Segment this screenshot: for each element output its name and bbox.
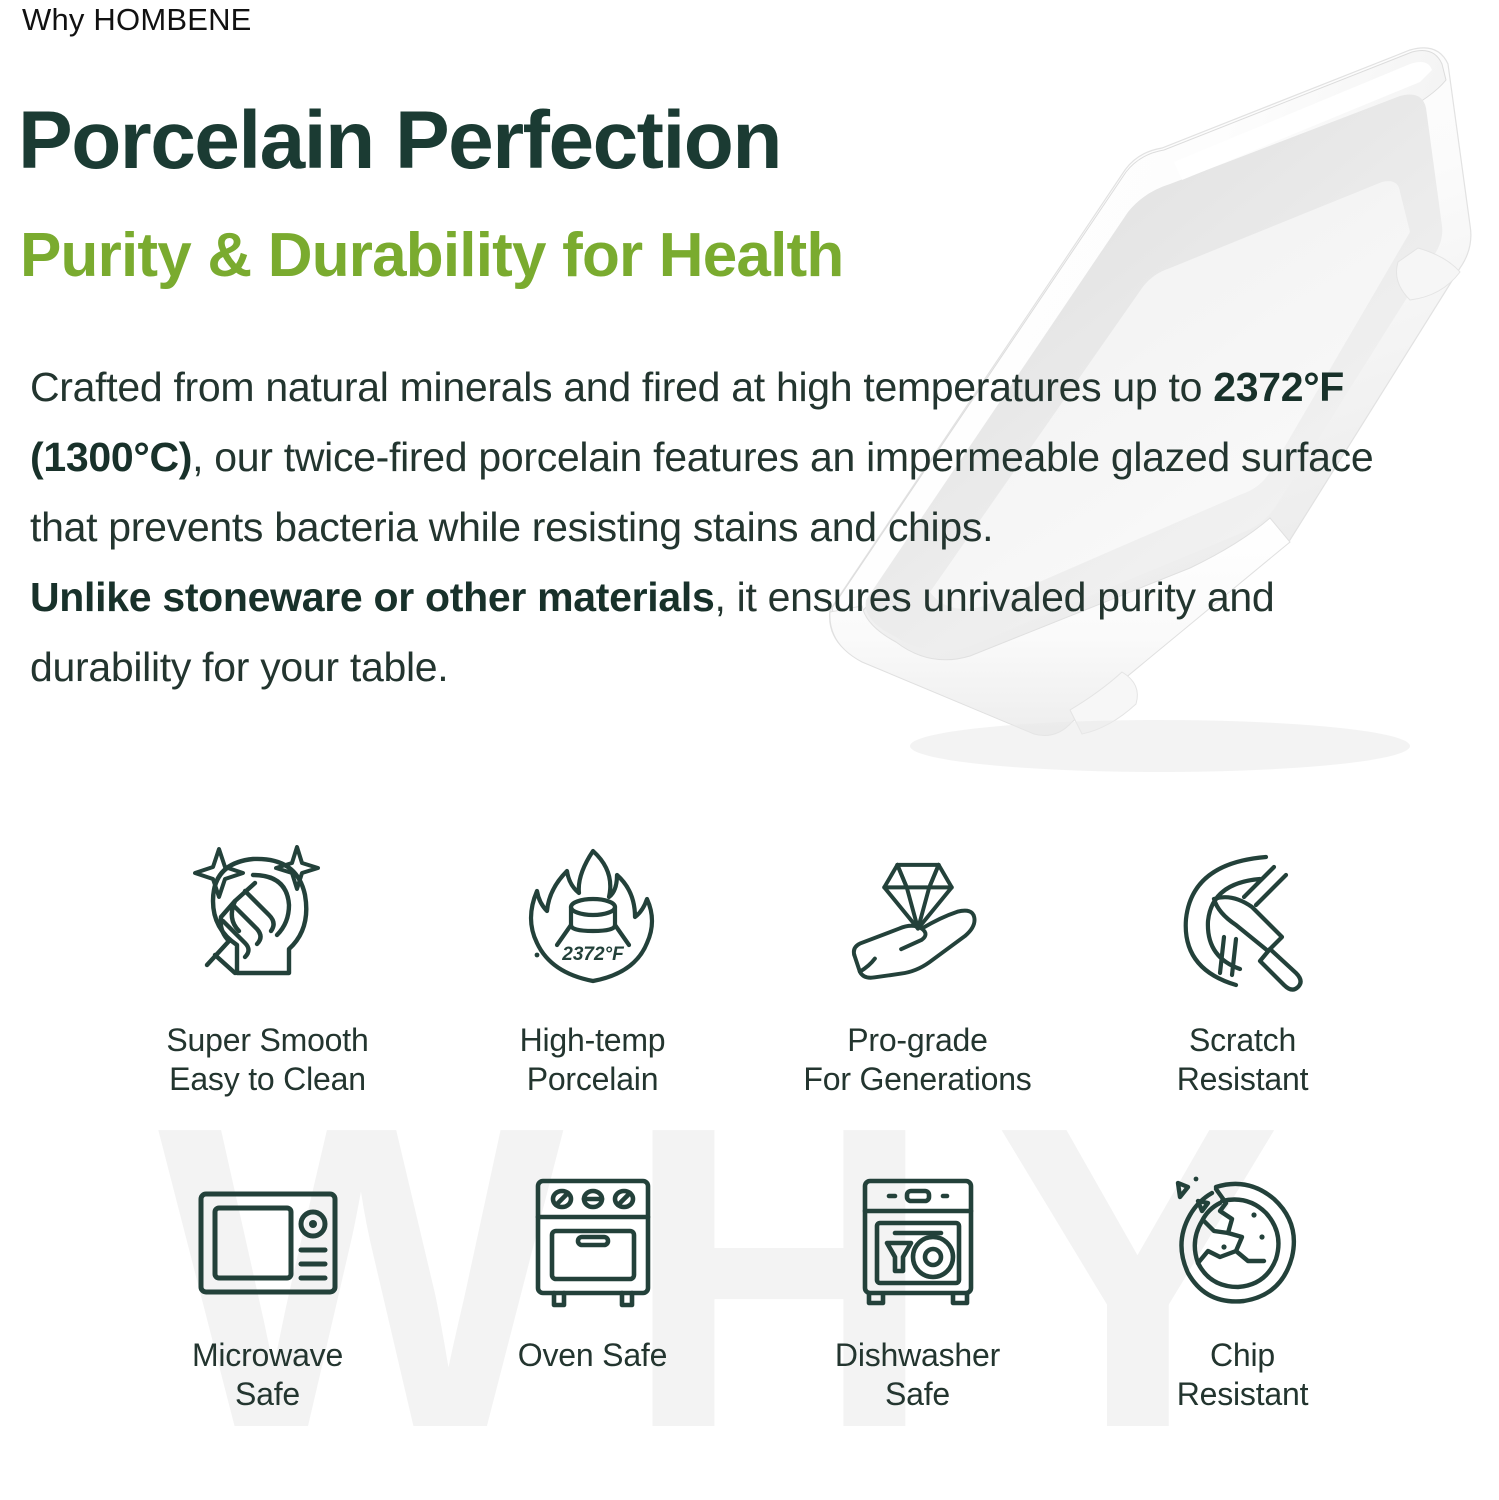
- brand-eyebrow: Why HOMBENE: [22, 2, 252, 38]
- label-line-2: Safe: [885, 1376, 950, 1412]
- body-p2-bold-lead: Unlike stoneware or other materials: [30, 574, 714, 620]
- label-line-1: Scratch: [1189, 1022, 1296, 1058]
- feature-label-oven-safe: Oven Safe: [518, 1336, 667, 1375]
- dishwasher-icon: [843, 1170, 993, 1320]
- label-line-2: Safe: [235, 1376, 300, 1412]
- feature-item-microwave-safe: Microwave Safe: [105, 1170, 430, 1490]
- body-p1-part2: , our twice-fired porcelain features an …: [30, 434, 1373, 550]
- feature-item-pro-grade: Pro-grade For Generations: [755, 840, 1080, 1170]
- feature-label-chip-resistant: Chip Resistant: [1177, 1336, 1309, 1414]
- label-line-1: Chip: [1210, 1337, 1275, 1373]
- feature-label-super-smooth: Super Smooth Easy to Clean: [166, 1021, 368, 1099]
- feature-item-super-smooth: Super Smooth Easy to Clean: [105, 840, 430, 1170]
- body-p1-part1: Crafted from natural minerals and fired …: [30, 364, 1213, 410]
- feature-icon-grid: Super Smooth Easy to Clean 2372°F: [105, 840, 1405, 1490]
- label-line-2: Easy to Clean: [169, 1061, 366, 1097]
- feature-item-high-temp: 2372°F High-temp Porcelain: [430, 840, 755, 1170]
- body-paragraph-1: Crafted from natural minerals and fired …: [30, 352, 1430, 562]
- flame-temperature-icon: 2372°F: [518, 840, 668, 1005]
- label-line-1: Dishwasher: [835, 1337, 1000, 1373]
- diamond-in-hand-icon: [843, 840, 993, 1005]
- label-line-1: Oven Safe: [518, 1337, 667, 1373]
- label-line-2: Porcelain: [527, 1061, 659, 1097]
- body-paragraph-2: Unlike stoneware or other materials, it …: [30, 562, 1430, 702]
- label-line-1: Pro-grade: [847, 1022, 988, 1058]
- feature-item-scratch-resistant: Scratch Resistant: [1080, 840, 1405, 1170]
- flame-temperature-label: 2372°F: [561, 944, 625, 965]
- microwave-icon: [193, 1170, 343, 1320]
- feature-item-chip-resistant: Chip Resistant: [1080, 1170, 1405, 1490]
- label-line-1: Super Smooth: [166, 1022, 368, 1058]
- label-line-2: Resistant: [1177, 1376, 1309, 1412]
- oven-icon: [518, 1170, 668, 1320]
- cracked-plate-chip-icon: [1168, 1170, 1318, 1320]
- feature-label-microwave-safe: Microwave Safe: [192, 1336, 343, 1414]
- page-title: Porcelain Perfection: [18, 100, 781, 182]
- page-subtitle: Purity & Durability for Health: [20, 225, 843, 287]
- feature-label-dishwasher-safe: Dishwasher Safe: [835, 1336, 1000, 1414]
- label-line-2: For Generations: [803, 1061, 1031, 1097]
- feature-label-pro-grade: Pro-grade For Generations: [803, 1021, 1031, 1099]
- feature-label-high-temp: High-temp Porcelain: [520, 1021, 666, 1099]
- feature-label-scratch-resistant: Scratch Resistant: [1177, 1021, 1309, 1099]
- label-line-1: Microwave: [192, 1337, 343, 1373]
- body-copy: Crafted from natural minerals and fired …: [30, 352, 1430, 702]
- sparkle-hand-wipe-icon: [193, 840, 343, 1005]
- infographic-page: WHY: [0, 0, 1499, 1500]
- feature-item-oven-safe: Oven Safe: [430, 1170, 755, 1490]
- label-line-1: High-temp: [520, 1022, 666, 1058]
- feature-item-dishwasher-safe: Dishwasher Safe: [755, 1170, 1080, 1490]
- knife-scratch-plate-icon: [1168, 840, 1318, 1005]
- label-line-2: Resistant: [1177, 1061, 1309, 1097]
